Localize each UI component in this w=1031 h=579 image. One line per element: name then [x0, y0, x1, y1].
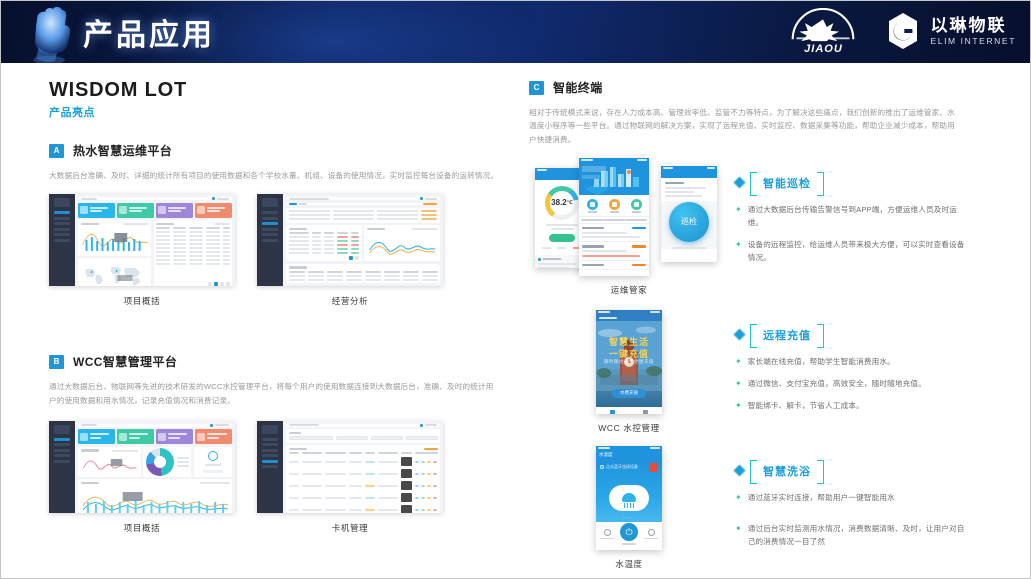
bullet-icon: ✦	[735, 492, 742, 505]
bullet-text: 通过蓝牙实时连接，帮助用户一键智能用水	[748, 492, 895, 505]
elim-logo-en: ELIM INTERNET	[930, 36, 1016, 46]
feature-bullet: ✦ 通过蓝牙实时连接，帮助用户一键智能用水	[735, 492, 969, 505]
section-a-title: 热水智慧运维平台	[73, 142, 172, 159]
bullet-icon: ✦	[735, 239, 742, 265]
inspection-button[interactable]: 巡检	[669, 202, 709, 242]
phones-ops-butler[interactable]: 38.2℃	[529, 158, 729, 296]
section-a-badge: A	[49, 144, 64, 158]
data-table-panel	[154, 220, 232, 286]
kpi-panel	[194, 447, 232, 477]
feature-bullet: ✦ 通过大数据后台传输告警信号到APP端，方便运维人员及时运维。	[735, 204, 969, 230]
bullet-text: 通过微信、支付宝充值，高效安全，随时随地充值。	[748, 378, 926, 391]
inspection-button-label: 巡检	[681, 216, 697, 227]
device-caption: 水温度	[529, 558, 729, 570]
feature-bullet: ✦ 智能绑卡、解卡，节省人工成本。	[735, 400, 969, 413]
list-item[interactable]	[579, 242, 649, 261]
connection-status: · · · · ·	[596, 515, 662, 520]
wisdom-title: WISDOM LOT	[49, 79, 501, 102]
feature-remote-recharge: 远程充值 ✦ 家长端在线充值，帮助学生智能消费用水。 ✦ 通过微信、支付宝充值，…	[729, 310, 969, 422]
device-caption: WCC 水控管理	[529, 422, 729, 434]
action-icon-2[interactable]	[609, 199, 620, 210]
bluetooth-hint: 点击蓝牙连接设备	[606, 464, 638, 470]
screenshot-caption: 项目概括	[49, 295, 235, 307]
action-icon-3[interactable]	[631, 199, 642, 210]
shower-icon	[609, 485, 649, 511]
bullet-text: 家长端在线充值，帮助学生智能消费用水。	[748, 356, 895, 369]
gauge-value: 38.2	[551, 198, 567, 207]
phone-water-temperature[interactable]: 水温度 点击蓝牙连接设备 · · · · ·	[596, 446, 662, 550]
tab-item[interactable]	[629, 407, 662, 414]
device-block-wcc: 智慧生活 一键充值 随时随地安全便捷充值 水费充值	[529, 310, 971, 434]
feature-title: 智慧洗浴	[763, 463, 811, 479]
bullet-icon: ✦	[735, 356, 742, 369]
wcc-hero-sub: 随时随地安全便捷充值	[596, 359, 662, 365]
left-column: WISDOM LOT 产品亮点 A 热水智慧运维平台 大数据后台准确、及时、详细…	[21, 75, 501, 579]
phone-wcc-recharge[interactable]: 智慧生活 一键充值 随时随地安全便捷充值 水费充值	[596, 310, 662, 414]
bullet-text: 智能绑卡、解卡，节省人工成本。	[748, 400, 864, 413]
page-header: 产品应用 JIAOU 以琳物联 ELIM INTERNET	[1, 1, 1030, 63]
page-body: WISDOM LOT 产品亮点 A 热水智慧运维平台 大数据后台准确、及时、详细…	[1, 63, 1030, 579]
section-b-title: WCC智慧管理平台	[73, 353, 177, 370]
quick-actions[interactable]	[579, 195, 649, 216]
bullet-icon: ✦	[735, 400, 742, 413]
bullet-icon: ✦	[735, 204, 742, 230]
filter-panel	[286, 208, 440, 223]
section-b-screenshots: 项目概括	[49, 421, 501, 534]
summary-table-panel	[286, 264, 440, 284]
elim-mark-icon	[883, 11, 923, 51]
header-logos: JIAOU 以琳物联 ELIM INTERNET	[781, 8, 1016, 54]
feature-smart-bathing: 智慧洗浴 ✦ 通过蓝牙实时连接，帮助用户一键智能用水 ✦ 通过后台实时监测用水情…	[729, 446, 969, 558]
card-machine-table	[286, 445, 440, 513]
bullet-icon: ✦	[735, 378, 742, 391]
bullet-text: 设备的远程监控，给运维人员带来极大方便，可以实时查看设备情况。	[748, 239, 969, 265]
line-chart-panel	[78, 447, 141, 477]
dashboard-image	[49, 194, 235, 286]
app-sidebar	[257, 194, 283, 286]
tab-item[interactable]	[596, 407, 629, 414]
app-sidebar	[49, 194, 75, 286]
app-sidebar	[49, 421, 75, 513]
screenshot-business-analysis[interactable]: 经营分析	[257, 194, 443, 307]
jiaou-logo-text: JIAOU	[781, 43, 865, 55]
section-b-badge: B	[49, 355, 64, 369]
action-icon-1[interactable]	[587, 199, 598, 210]
list-item[interactable]	[579, 224, 649, 243]
gauge-unit: ℃	[567, 200, 573, 206]
feature-bullet: ✦ 通过微信、支付宝充值，高效安全，随时随地充值。	[735, 378, 969, 391]
wisdom-subtitle: 产品亮点	[49, 104, 501, 120]
dashboard-image	[257, 194, 443, 286]
bullet-icon: ✦	[735, 523, 742, 549]
dashboard-image	[257, 421, 443, 513]
app-title-bar: 水温度	[596, 451, 662, 460]
diamond-icon	[733, 176, 746, 189]
bottom-tab-bar[interactable]	[596, 407, 662, 414]
device-block-ops-butler: 38.2℃	[529, 158, 971, 296]
feature-bullet: ✦ 设备的远程监控，给运维人员带来极大方便，可以实时查看设备情况。	[735, 239, 969, 265]
donut-chart	[146, 448, 174, 476]
world-map-panel	[78, 258, 151, 286]
section-b-desc: 通过大数据后台、物联网等先进的技术研发的WCC水控管理平台，将每个用户的使用数据…	[49, 380, 501, 407]
phone-ops-home[interactable]	[579, 158, 649, 276]
donut-chart-panel	[143, 447, 191, 477]
screenshot-caption: 卡机管理	[257, 522, 443, 534]
feature-bullet: ✦ 家长端在线充值，帮助学生智能消费用水。	[735, 356, 969, 369]
diamond-icon	[733, 464, 746, 477]
status-pill	[549, 234, 575, 242]
poster-page: 产品应用 JIAOU 以琳物联 ELIM INTERNET	[0, 0, 1031, 579]
temperature-gauge: 38.2℃	[545, 186, 579, 220]
device-badge-icon	[649, 463, 658, 472]
diamond-icon	[733, 328, 746, 341]
device-caption: 运维管家	[529, 284, 729, 296]
page-title: 产品应用	[83, 10, 215, 54]
section-c-desc: 相对于传统模式来说，存在人力成本高、管理效率低、监管不力等特点，为了解决这些痛点…	[529, 106, 959, 146]
feature-smart-inspection: 智能巡检 ✦ 通过大数据后台传输告警信号到APP端，方便运维人员及时运维。 ✦ …	[729, 158, 969, 274]
feature-title: 智能巡检	[763, 175, 811, 191]
search-filter-panel[interactable]	[286, 429, 440, 443]
records-table-panel	[286, 225, 362, 261]
screenshot-project-overview-2[interactable]: 项目概括	[49, 421, 235, 534]
pagination[interactable]	[289, 256, 360, 260]
city-illustration	[579, 163, 649, 195]
screenshot-project-overview-1[interactable]: 项目概括	[49, 194, 235, 307]
list-item[interactable]	[579, 261, 649, 271]
section-b-header: B WCC智慧管理平台	[49, 353, 501, 370]
bullet-text: 通过后台实时监测用水情况，消费数据清晰、及时，让用户对自己的消费情况一目了然	[748, 523, 969, 549]
section-c-title: 智能终端	[553, 79, 603, 96]
filter-row[interactable]	[579, 216, 649, 224]
jiaou-logo: JIAOU	[781, 8, 865, 54]
pagination[interactable]	[156, 282, 229, 286]
trend-chart-panel	[364, 225, 440, 261]
device-block-water-temp: 水温度 点击蓝牙连接设备 · · · · ·	[529, 446, 971, 570]
section-a-screenshots: 项目概括	[49, 194, 501, 307]
phone-wcc-wrap[interactable]: 智慧生活 一键充值 随时随地安全便捷充值 水费充值	[529, 310, 729, 434]
section-a-header: A 热水智慧运维平台	[49, 142, 501, 159]
elim-logo-cn: 以琳物联	[930, 16, 1016, 36]
screenshot-card-machine-management[interactable]: 卡机管理	[257, 421, 443, 534]
feature-bullet: ✦ 通过后台实时监测用水情况，消费数据清晰、及时，让用户对自己的消费情况一目了然	[735, 523, 969, 549]
section-a-desc: 大数据后台准确、及时、详细的统计所有项目的使用数据和各个学校水量、机组、设备的使…	[49, 169, 501, 182]
elim-logo: 以琳物联 ELIM INTERNET	[883, 11, 1016, 51]
section-c-header: C 智能终端	[529, 79, 971, 96]
app-title: 水温度	[599, 452, 613, 458]
phone-water-temp-wrap[interactable]: 水温度 点击蓝牙连接设备 · · · · ·	[529, 446, 729, 570]
app-sidebar	[257, 421, 283, 513]
bullet-text: 通过大数据后台传输告警信号到APP端，方便运维人员及时运维。	[748, 204, 969, 230]
recharge-button[interactable]: 水费充值	[612, 389, 646, 398]
wcc-hero-banner: 智慧生活 一键充值 随时随地安全便捷充值	[596, 321, 662, 391]
dashboard-image	[49, 421, 235, 513]
screenshot-caption: 经营分析	[257, 295, 443, 307]
fist-icon	[21, 3, 77, 63]
combo-chart-panel	[78, 479, 232, 513]
right-column: C 智能终端 相对于传统模式来说，存在人力成本高、管理效率低、监管不力等特点，为…	[501, 75, 971, 579]
bluetooth-panel: 点击蓝牙连接设备 · · · · ·	[596, 460, 662, 522]
feature-title: 远程充值	[763, 327, 811, 343]
screenshot-caption: 项目概括	[49, 522, 235, 534]
section-c-badge: C	[529, 81, 544, 95]
phone-inspection-detail[interactable]: 巡检	[661, 166, 717, 262]
